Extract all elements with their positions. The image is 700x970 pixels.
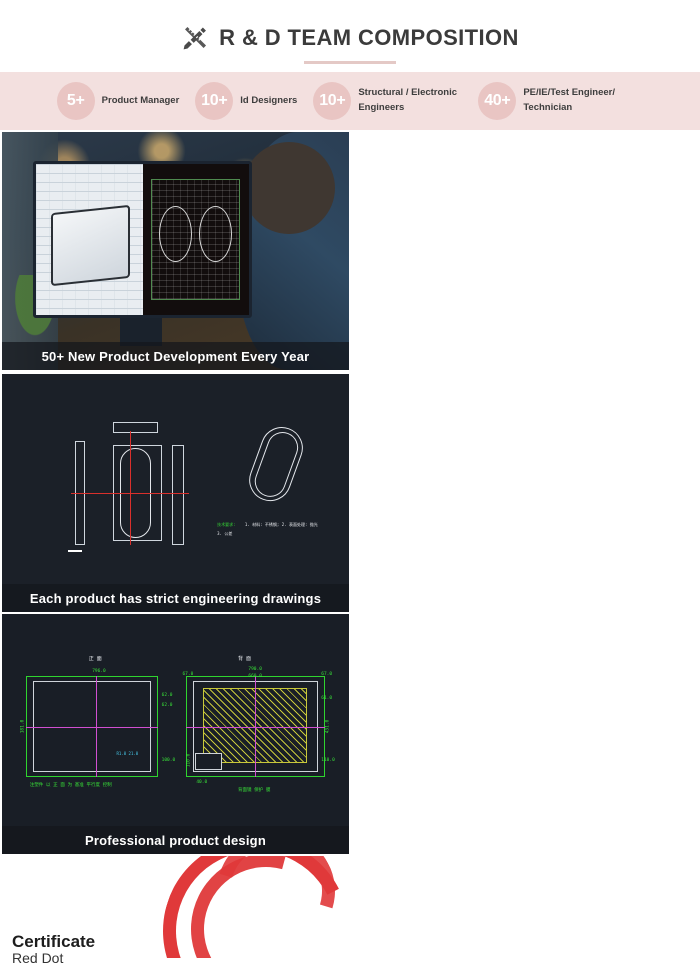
back-dim-right-3: 110.0	[321, 758, 335, 763]
certificate-heading: Certificate	[12, 932, 95, 952]
front-detail-note: R1.0 21.0	[117, 751, 139, 756]
back-dim-bottom: 40.0	[196, 780, 207, 785]
stat-item-product-manager: 5+ Product Manager	[57, 82, 196, 120]
stat-count: 5+	[57, 82, 95, 120]
side-view-thick	[172, 445, 184, 545]
gallery-item-engineering-drawings[interactable]: 技术要求: 1. 材料: 不锈钢; 2. 表面处理: 抛光 3. 公差 Each…	[2, 374, 349, 612]
stat-label: Id Designers	[240, 94, 297, 109]
cad-drawing	[151, 179, 240, 300]
gallery-caption: Each product has strict engineering draw…	[2, 584, 349, 612]
back-dim-corner-r: 67.0	[321, 672, 332, 677]
center-line-vertical	[130, 431, 131, 545]
gallery-item-red-dot-award[interactable]: Certificate Red Dot The Red Dot is the a…	[2, 856, 349, 970]
back-center-h	[186, 727, 325, 728]
view-title-back: 背 面	[238, 655, 251, 662]
scale-bar	[68, 550, 82, 552]
back-dim-right-2: 431.0	[326, 720, 331, 734]
engineering-drawing-panel: 技术要求: 1. 材料: 不锈钢; 2. 表面处理: 抛光 3. 公差	[2, 374, 349, 612]
certificate-subheading: Red Dot	[12, 950, 63, 966]
title-underline	[304, 61, 396, 64]
rd-section-header-row: R & D TEAM COMPOSITION	[181, 24, 519, 52]
stat-count: 40+	[478, 82, 516, 120]
front-dim-left: 181.0	[20, 720, 25, 734]
stat-label: Structural / Electronic Engineers	[358, 86, 462, 115]
center-line-horizontal	[71, 493, 189, 494]
red-dot-certificate: Certificate Red Dot The Red Dot is the a…	[2, 856, 349, 970]
back-view-cutout	[195, 753, 223, 770]
front-annotation: 注塑件 以 正 面 为 基准 平行度 控制	[30, 782, 112, 788]
top-view	[113, 422, 158, 434]
engineer-head	[243, 142, 335, 234]
pencil-ruler-icon	[181, 24, 209, 52]
cad-3d-view	[36, 164, 142, 315]
back-dim-top-1: 790.0	[248, 667, 262, 672]
front-dim-right-2: 62.0	[162, 703, 173, 708]
stat-item-structural-electronic: 10+ Structural / Electronic Engineers	[313, 82, 478, 120]
front-dim-right-1: 62.0	[162, 693, 173, 698]
drawing-note-green: 技术要求:	[217, 522, 235, 528]
gallery-item-professional-design[interactable]: 正 面 背 面 R1.0 21.0 796.0 181.0 62.0 62.0 …	[2, 614, 349, 854]
back-dim-corner-l: 67.0	[182, 672, 193, 677]
team-stats-bar: 5+ Product Manager 10+ Id Designers 10+ …	[0, 72, 700, 130]
gallery-caption: Professional product design	[2, 826, 349, 854]
view-title-front: 正 面	[89, 655, 102, 662]
back-dim-left: 110.0	[187, 754, 192, 768]
drawing-note-white-2: 3. 公差	[217, 531, 232, 537]
stat-label: Product Manager	[102, 94, 180, 109]
product-design-drawing-panel: 正 面 背 面 R1.0 21.0 796.0 181.0 62.0 62.0 …	[2, 614, 349, 854]
stat-label: PE/IE/Test Engineer/ Technician	[523, 86, 627, 115]
stat-count: 10+	[195, 82, 233, 120]
product-3d-model	[51, 205, 130, 286]
stat-count: 10+	[313, 82, 351, 120]
monitor	[33, 161, 252, 318]
stat-item-pe-ie-test: 40+ PE/IE/Test Engineer/ Technician	[478, 82, 643, 120]
front-center-h	[26, 727, 158, 728]
back-dim-right-1: 61.0	[321, 696, 332, 701]
gallery-item-product-development[interactable]: 50+ New Product Development Every Year	[2, 132, 349, 370]
cad-2d-view	[143, 164, 249, 315]
front-dim-top: 796.0	[92, 669, 106, 674]
capability-gallery: 50+ New Product Development Every Year 技…	[0, 130, 700, 970]
front-dim-right-3: 100.0	[162, 758, 176, 763]
cad-workstation-photo	[2, 132, 349, 370]
drawing-note-white: 1. 材料: 不锈钢; 2. 表面处理: 抛光	[245, 522, 318, 528]
gallery-caption: 50+ New Product Development Every Year	[2, 342, 349, 370]
stat-item-id-designers: 10+ Id Designers	[195, 82, 313, 120]
rd-section-header: R & D TEAM COMPOSITION	[0, 0, 700, 72]
page-title: R & D TEAM COMPOSITION	[219, 25, 519, 51]
back-dim-top-2: 660.0	[248, 674, 262, 679]
back-annotation: 背面镜 保护 膜	[238, 787, 270, 793]
red-dot-swirl-graphic	[155, 856, 349, 958]
